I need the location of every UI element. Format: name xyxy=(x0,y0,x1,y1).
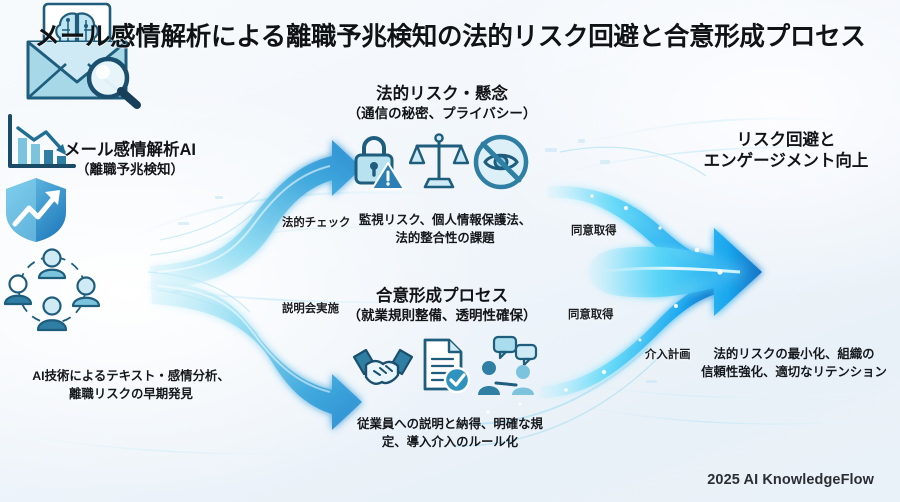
outcome-heading-line1: リスク回避と xyxy=(672,130,900,151)
source-caption: AI技術によるテキスト・感情分析、 離職リスクの早期発見 xyxy=(0,368,262,404)
risk-caption: 監視リスク、個人情報保護法、 法的整合性の課題 xyxy=(300,212,590,248)
footer-credit: 2025 AI KnowledgeFlow xyxy=(707,472,874,488)
lock-warning-icon xyxy=(350,131,406,196)
source-heading-line1: メール感情解析AI xyxy=(0,140,260,161)
outcome-caption-line2: 信頼性強化、適切なリテンション xyxy=(701,365,887,379)
merge-label-intervention-plan: 介入計画 xyxy=(645,346,691,362)
risk-heading: 法的リスク・懸念 （通信の秘密、プライバシー） xyxy=(312,84,572,122)
source-caption-line1: AI技術によるテキスト・感情分析、 xyxy=(32,369,230,383)
outcome-caption-line1: 法的リスクの最小化、組織の xyxy=(713,347,874,361)
consensus-caption-line1: 従業員への説明と納得、明確な規 xyxy=(357,417,543,431)
consensus-heading-line1: 合意形成プロセス xyxy=(310,286,574,307)
risk-caption-line1: 監視リスク、個人情報保護法、 xyxy=(359,213,531,227)
consensus-caption: 従業員への説明と納得、明確な規 定、導入介入のルール化 xyxy=(300,416,600,452)
page-title: メール感情解析による離職予兆検知の法的リスク回避と合意形成プロセス xyxy=(0,16,900,53)
risk-heading-line2: （通信の秘密、プライバシー） xyxy=(312,105,572,122)
source-heading: メール感情解析AI （離職予兆検知） xyxy=(0,140,260,178)
outcome-heading-line2: エンゲージメント向上 xyxy=(672,151,900,172)
scales-of-justice-icon xyxy=(409,131,469,196)
consensus-icon-row xyxy=(352,340,538,402)
source-caption-line2: 離職リスクの早期発見 xyxy=(69,387,193,401)
two-people-discussion-icon xyxy=(476,335,538,402)
risk-caption-line2: 法的整合性の課題 xyxy=(395,231,494,245)
merge-label-consent-lower: 同意取得 xyxy=(568,306,614,322)
document-check-icon xyxy=(419,337,471,402)
risk-icon-row xyxy=(350,134,530,196)
handshake-icon xyxy=(352,341,414,402)
source-heading-line2: （離職予兆検知） xyxy=(0,161,260,178)
no-surveillance-eye-icon xyxy=(472,133,530,196)
consensus-caption-line2: 定、導入介入のルール化 xyxy=(382,435,518,449)
outcome-caption: 法的リスクの最小化、組織の 信頼性強化、適切なリテンション xyxy=(688,346,900,382)
merge-label-consent-upper: 同意取得 xyxy=(571,222,617,238)
outcome-heading: リスク回避と エンゲージメント向上 xyxy=(672,130,900,172)
infographic-canvas: メール感情解析による離職予兆検知の法的リスク回避と合意形成プロセス メール感情解… xyxy=(0,0,900,502)
consensus-heading: 合意形成プロセス （就業規則整備、透明性確保） xyxy=(310,286,574,324)
consensus-heading-line2: （就業規則整備、透明性確保） xyxy=(310,307,574,324)
risk-heading-line1: 法的リスク・懸念 xyxy=(312,84,572,105)
